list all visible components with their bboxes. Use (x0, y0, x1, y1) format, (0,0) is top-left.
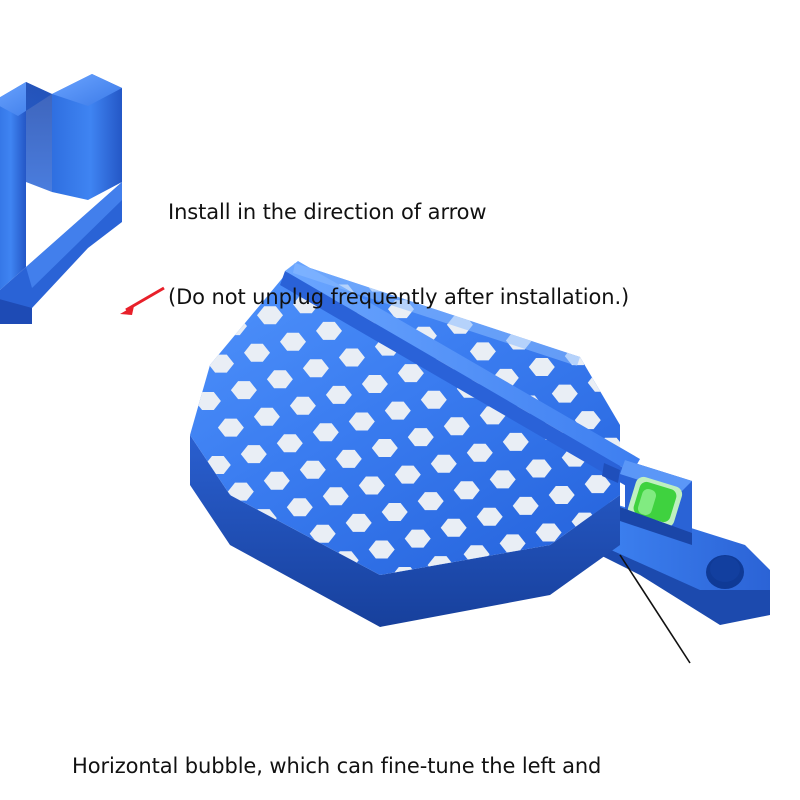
honeycomb-cell (663, 251, 689, 269)
honeycomb-cell (657, 453, 683, 471)
honeycomb-cell (225, 584, 251, 602)
honeycomb-cell (627, 261, 653, 279)
bottom-caption: Horizontal bubble, which can fine-tune t… (72, 696, 601, 800)
honeycomb-cell (307, 626, 333, 644)
top-caption-line2: (Do not unplug frequently after installa… (168, 283, 629, 311)
bubble-level-leader-line (590, 545, 710, 680)
honeycomb-cell (706, 405, 732, 423)
honeycomb-cell (647, 389, 673, 407)
honeycomb-cell (693, 443, 719, 461)
honeycomb-cell (716, 469, 742, 487)
honeycomb-cell (284, 600, 310, 618)
honeycomb-cell (650, 288, 676, 306)
honeycomb-cell (634, 427, 660, 445)
honeycomb-cell (676, 213, 702, 231)
honeycomb-cell (660, 352, 686, 370)
honeycomb-cell (696, 341, 722, 359)
honeycomb-cell (637, 325, 663, 343)
honeycomb-cell (670, 416, 696, 434)
honeycomb-cell (235, 648, 261, 666)
honeycomb-cell (261, 573, 287, 591)
honeycomb-cell (248, 611, 274, 629)
top-caption-line1: Install in the direction of arrow (168, 198, 629, 226)
honeycomb-cell (271, 637, 297, 655)
honeycomb-cell (653, 187, 679, 205)
honeycomb-cell (611, 400, 637, 418)
honeycomb-cell (703, 507, 729, 525)
product-instruction-image: Install in the direction of arrow (Do no… (0, 0, 800, 800)
honeycomb-cell (673, 315, 699, 333)
honeycomb-cell (683, 379, 709, 397)
top-caption: Install in the direction of arrow (Do no… (168, 142, 629, 367)
honeycomb-cell (640, 224, 666, 242)
honeycomb-cell (686, 277, 712, 295)
bottom-caption-line1: Horizontal bubble, which can fine-tune t… (72, 752, 601, 780)
